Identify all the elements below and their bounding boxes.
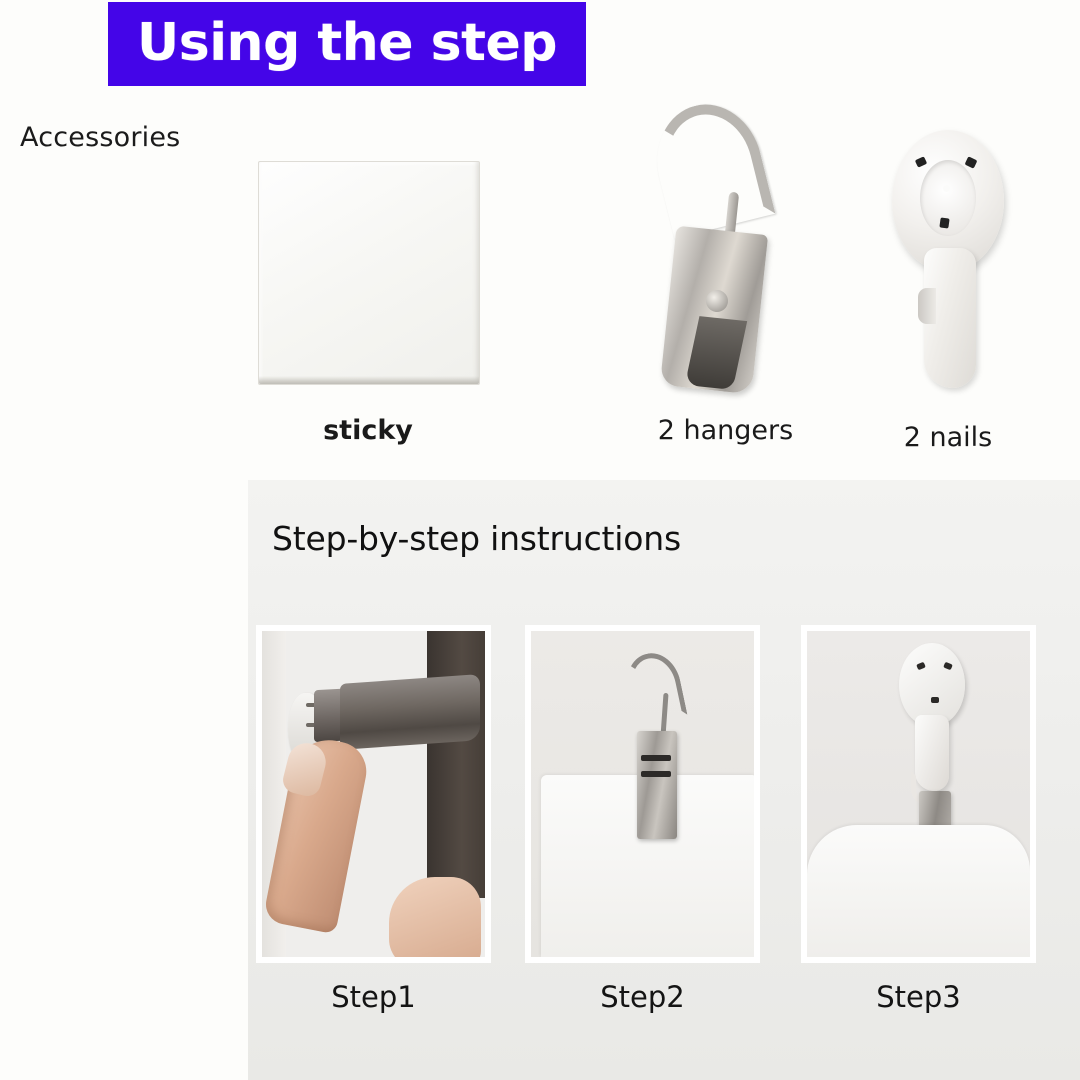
step-caption-3: Step3 [801,980,1036,1014]
step1-dark-panel [427,631,485,898]
accessory-caption-nails: 2 nails [868,422,1028,453]
page-title: Using the step [108,17,586,69]
instructions-title: Step-by-step instructions [272,519,681,558]
hook-center-dot-shape [943,185,950,192]
step1-second-hand-shape [389,877,481,957]
adhesive-pad-shape [258,161,480,385]
title-banner: Using the step [108,2,586,86]
accessory-caption-hangers: 2 hangers [618,415,833,446]
step3-towel-shape [807,825,1030,957]
clip-hanger-icon [640,100,810,390]
step-caption-2: Step2 [525,980,760,1014]
step1-hammer-head-shape [340,674,480,750]
product-instruction-infographic: Using the step Accessories sticky 2 hang… [0,0,1080,1080]
wall-hook-nail-icon [878,130,1018,392]
step-caption-1: Step1 [256,980,491,1014]
clip-hanger-gripping-white-sheet-photo [531,631,754,957]
adhesive-pad-icon [258,161,478,383]
accessory-caption-sticky: sticky [258,415,478,446]
step2-clip-slot-upper [641,755,671,761]
hook-notch-shape [918,288,936,324]
instructions-panel: Step-by-step instructions Step1 [248,480,1080,1080]
step-photo-frame-3 [801,625,1036,963]
hanger-hook-shape [645,93,776,238]
hammer-nailing-hook-into-wall-photo [262,631,485,957]
wall-hook-with-clip-holding-towel-photo [807,631,1030,957]
step2-clip-body-shape [637,731,677,839]
step-photo-frame-1 [256,625,491,963]
step2-clip-slot-lower [641,771,671,777]
step3-nail-hole-bottom-icon [931,697,939,703]
nail-hole-bottom-icon [939,217,949,228]
step-photo-frame-2 [525,625,760,963]
accessories-section-label: Accessories [20,122,180,153]
